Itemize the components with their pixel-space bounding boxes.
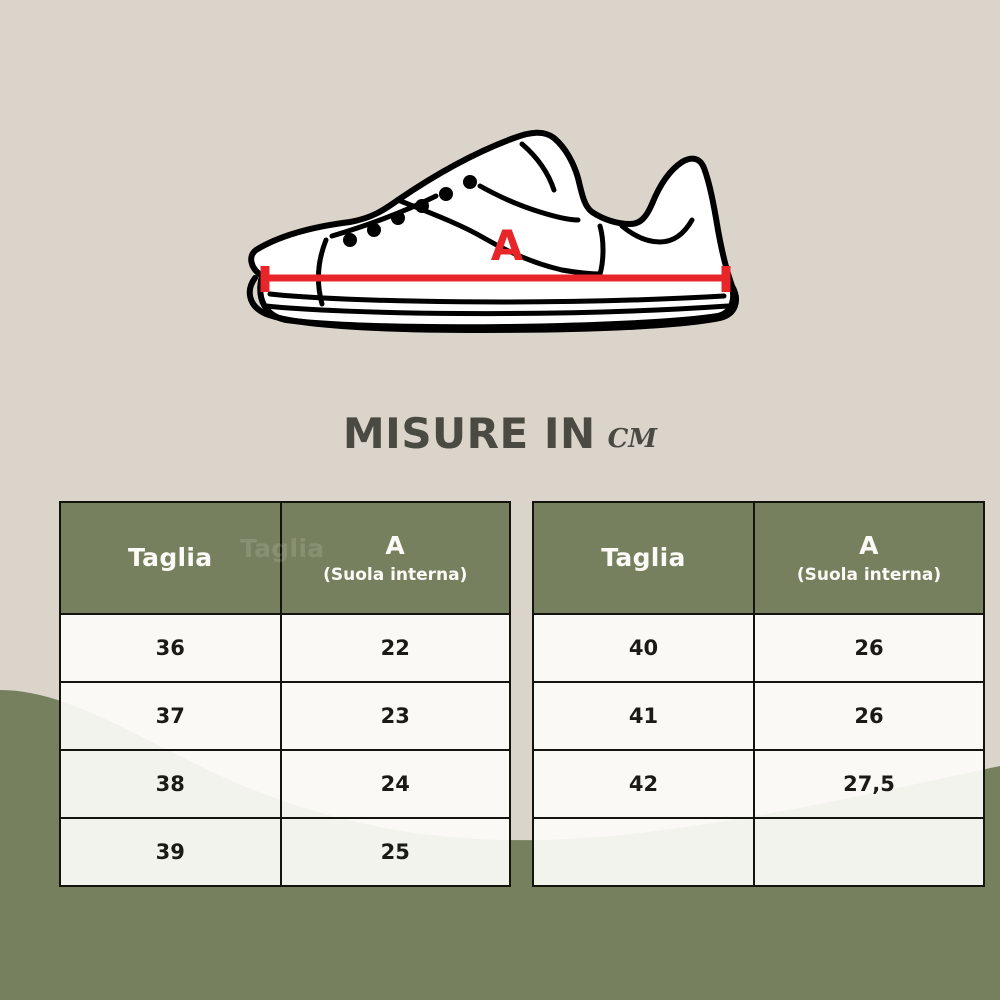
cell-measure: 26 [754,682,984,750]
cell-measure: 25 [281,818,511,886]
table-row: 40 26 [533,614,984,682]
cell-measure: 26 [754,614,984,682]
cell-size: 42 [533,750,754,818]
header-size-label: Taglia [67,544,274,573]
header-measure-sublabel: (Suola interna) [288,566,504,585]
header-measure-sublabel: (Suola interna) [761,566,977,585]
eyelet-3 [391,211,405,225]
eyelet-6 [463,175,477,189]
cell-measure: 23 [281,682,511,750]
header-cell-size: Taglia [60,502,281,614]
table-row: 42 27,5 [533,750,984,818]
cell-measure [754,818,984,886]
table-row: 36 22 [60,614,510,682]
header-size-label: Taglia [540,544,747,573]
table-header-row: Taglia A (Suola interna) [533,502,984,614]
size-table-right: Taglia A (Suola interna) 40 26 41 26 42 … [532,501,985,887]
header-measure-label: A [288,532,504,561]
sneaker-illustration: A [222,100,782,350]
eyelet-4 [415,199,429,213]
eyelet-1 [343,233,357,247]
eyelet-2 [367,223,381,237]
header-cell-size: Taglia [533,502,754,614]
measure-label-a: A [491,221,524,270]
cell-size: 41 [533,682,754,750]
cell-size: 39 [60,818,281,886]
cell-size: 37 [60,682,281,750]
page-title: MISURE INcm [0,409,1000,458]
header-cell-measure: A (Suola interna) [281,502,511,614]
table-row: 41 26 [533,682,984,750]
eyelet-5 [439,187,453,201]
table-row: 38 24 [60,750,510,818]
cell-size: 40 [533,614,754,682]
size-table-left: Taglia A (Suola interna) 36 22 37 23 38 … [59,501,511,887]
cell-measure: 22 [281,614,511,682]
table-row: 37 23 [60,682,510,750]
header-cell-measure: A (Suola interna) [754,502,984,614]
cell-size: 36 [60,614,281,682]
table-row: 39 25 [60,818,510,886]
cell-measure: 27,5 [754,750,984,818]
page-title-unit: cm [608,412,657,456]
cell-measure: 24 [281,750,511,818]
cell-size: 38 [60,750,281,818]
header-measure-label: A [761,532,977,561]
table-row-empty [533,818,984,886]
page-title-main: MISURE IN [343,409,596,458]
cell-size [533,818,754,886]
table-header-row: Taglia A (Suola interna) [60,502,510,614]
